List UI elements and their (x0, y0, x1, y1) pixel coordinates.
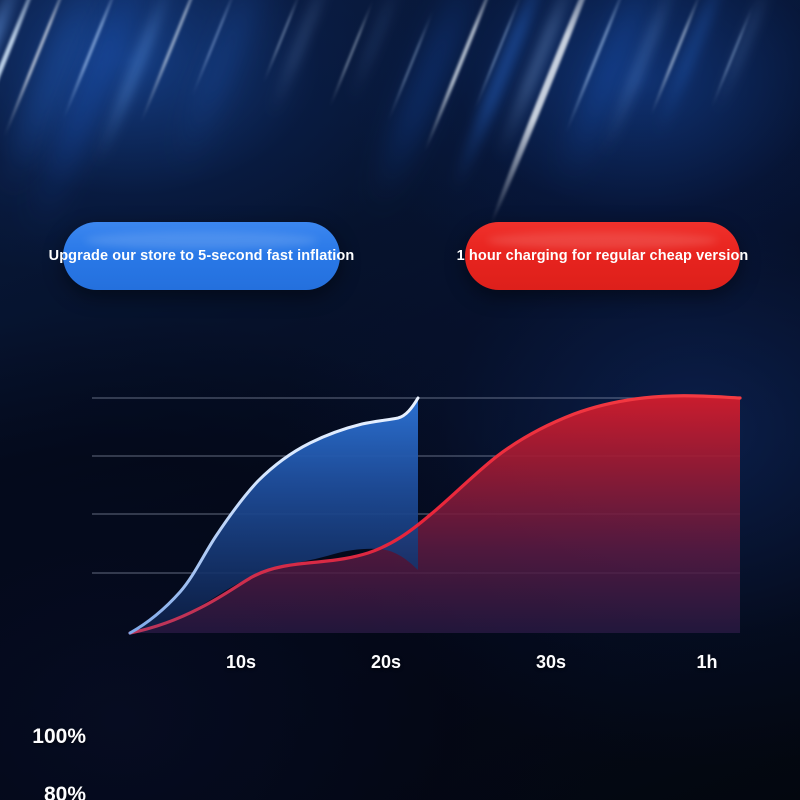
badge-slow-charge-label: 1 hour charging for regular cheap versio… (457, 248, 749, 264)
x-axis-label-20s: 20s (341, 652, 431, 673)
light-streak (711, 5, 754, 108)
light-streak (601, 0, 681, 157)
light-streak (495, 0, 579, 162)
light-streak (172, 0, 273, 177)
light-streak (263, 0, 302, 83)
badge-slow-charge[interactable]: 1 hour charging for regular cheap versio… (465, 222, 740, 290)
light-streak (3, 0, 73, 138)
light-streak (423, 0, 500, 152)
light-streak (649, 0, 702, 116)
light-streak (449, 0, 557, 195)
light-streak (93, 0, 176, 168)
light-streak (556, 0, 664, 189)
light-streak (329, 0, 374, 107)
x-axis-label-10s: 10s (196, 652, 286, 673)
light-streak (0, 0, 109, 206)
y-axis-label-80: 80% (8, 783, 86, 800)
light-streak (348, 0, 403, 106)
badge-fast-charge-label: Upgrade our store to 5-second fast infla… (49, 248, 355, 264)
x-axis-label-30s: 30s (506, 652, 596, 673)
light-streak (0, 0, 51, 230)
light-streak (653, 0, 733, 140)
promo-chart-poster: Upgrade our store to 5-second fast infla… (0, 0, 800, 800)
badge-sheen (85, 232, 318, 250)
light-streak (488, 0, 607, 226)
light-streak (268, 0, 334, 119)
light-streak (387, 10, 434, 122)
charging-curve-chart: 100% 80% 50% 20% 0% 10s 20s 30s 1h (0, 340, 800, 670)
light-streak (191, 0, 238, 97)
light-streak (24, 0, 157, 239)
light-streak (365, 0, 485, 221)
light-streak (139, 0, 207, 123)
light-streak (0, 0, 29, 177)
badge-fast-charge[interactable]: Upgrade our store to 5-second fast infla… (63, 222, 340, 290)
light-streak (564, 0, 629, 134)
chart-svg (0, 340, 800, 670)
x-axis-label-1h: 1h (662, 652, 752, 673)
light-streak (473, 0, 524, 111)
light-streak (62, 0, 121, 120)
y-axis-label-100: 100% (8, 725, 86, 749)
badge-sheen (487, 232, 718, 250)
light-streak (714, 0, 774, 116)
